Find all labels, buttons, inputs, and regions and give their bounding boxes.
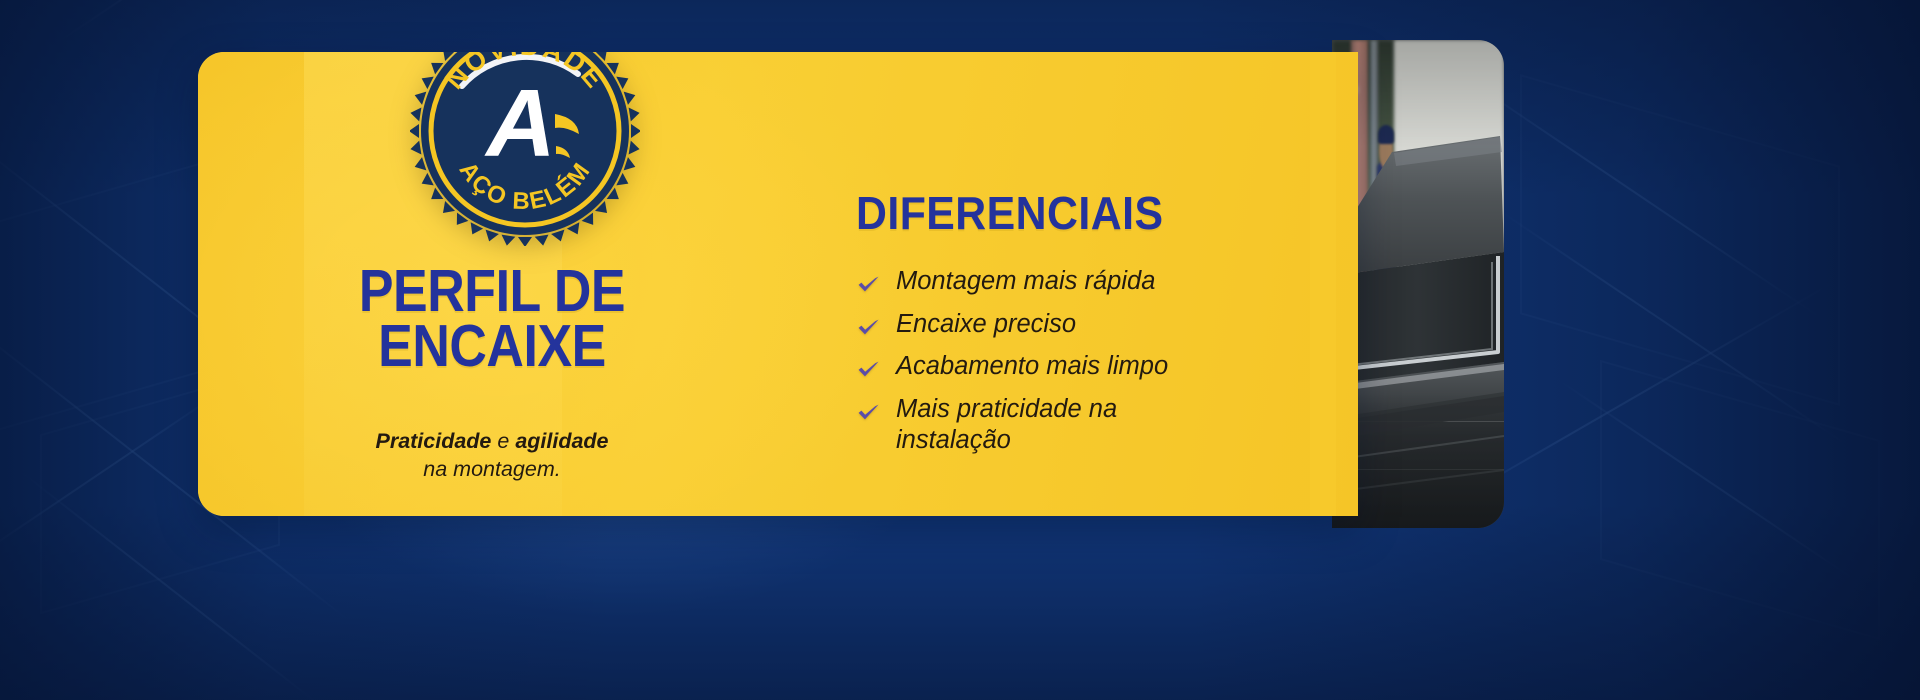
check-icon bbox=[856, 272, 881, 297]
differentials-section: DIFERENCIAIS Montagem mais rápida Encaix… bbox=[856, 190, 1326, 468]
list-item-label: Encaixe preciso bbox=[896, 309, 1076, 341]
subtitle-word-praticidade: Praticidade bbox=[375, 429, 491, 453]
subtitle-connector: e bbox=[491, 429, 515, 453]
product-column: NOVIDADE AÇO BELÉM A PERFIL DE ENCAIXE bbox=[302, 52, 682, 516]
check-icon bbox=[856, 315, 881, 340]
card-photo-divider bbox=[1310, 52, 1336, 516]
list-item: Acabamento mais limpo bbox=[856, 351, 1326, 383]
product-subtitle: Praticidade e agilidade na montagem. bbox=[302, 427, 682, 484]
product-title: PERFIL DE ENCAIXE bbox=[330, 264, 654, 375]
check-icon bbox=[856, 400, 881, 425]
svg-text:A: A bbox=[484, 70, 555, 177]
list-item: Mais praticidade na instalação bbox=[856, 394, 1326, 457]
list-item: Montagem mais rápida bbox=[856, 266, 1326, 298]
list-item-label: Mais praticidade na instalação bbox=[896, 394, 1226, 457]
check-icon bbox=[856, 357, 881, 382]
promo-card: NOVIDADE AÇO BELÉM A PERFIL DE ENCAIXE bbox=[198, 52, 1358, 516]
product-title-line-1: PERFIL DE bbox=[330, 264, 654, 319]
list-item-label: Acabamento mais limpo bbox=[896, 351, 1168, 383]
subtitle-word-agilidade: agilidade bbox=[515, 429, 608, 453]
novidade-aco-belem-seal-icon: NOVIDADE AÇO BELÉM A bbox=[410, 52, 640, 246]
differentials-heading: DIFERENCIAIS bbox=[856, 190, 1293, 236]
product-title-line-2: ENCAIXE bbox=[330, 319, 654, 374]
list-item-label: Montagem mais rápida bbox=[896, 266, 1155, 298]
product-subtitle-line-1: Praticidade e agilidade bbox=[302, 427, 682, 455]
differentials-list: Montagem mais rápida Encaixe preciso Aca… bbox=[856, 266, 1326, 457]
novidade-badge: NOVIDADE AÇO BELÉM A bbox=[410, 52, 640, 246]
product-subtitle-line-2: na montagem. bbox=[302, 455, 682, 483]
product-title-block: PERFIL DE ENCAIXE bbox=[302, 264, 682, 375]
list-item: Encaixe preciso bbox=[856, 309, 1326, 341]
